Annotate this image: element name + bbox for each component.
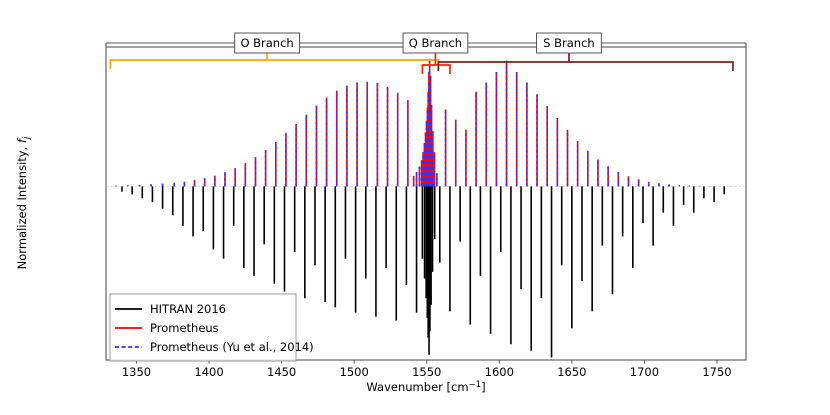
x-tick-label: 1650 [557,365,586,379]
legend-label-0: HITRAN 2016 [150,302,226,316]
svg-text:Normalized Intensity, fj: Normalized Intensity, fj [15,136,32,269]
x-tick-label: 1600 [485,365,514,379]
legend-label-2: Prometheus (Yu et al., 2014) [150,340,314,354]
legend-box: HITRAN 2016PrometheusPrometheus (Yu et a… [110,294,314,361]
x-axis-ticks: 135014001450150015501600165017001750 [122,360,732,379]
plot-canvas: 135014001450150015501600165017001750 O B… [0,0,830,415]
x-axis-title-text: Wavenumber [cm [366,380,468,394]
x-tick-label: 1700 [630,365,659,379]
x-axis-title: Wavenumber [cm−1] [366,380,485,394]
branch-label-text-o-branch: O Branch [240,36,293,50]
x-tick-label: 1750 [702,365,731,379]
x-tick-label: 1550 [412,365,441,379]
x-tick-label: 1400 [194,365,223,379]
x-tick-label: 1450 [267,365,296,379]
branch-label-text-q-branch: Q Branch [409,36,462,50]
x-tick-label: 1500 [340,365,369,379]
x-tick-label: 1350 [122,365,151,379]
branch-label-text-s-branch: S Branch [543,36,595,50]
y-axis-title: Normalized Intensity, fj [15,136,32,269]
legend-label-1: Prometheus [150,321,219,335]
spectrum-figure: 135014001450150015501600165017001750 O B… [0,0,830,415]
